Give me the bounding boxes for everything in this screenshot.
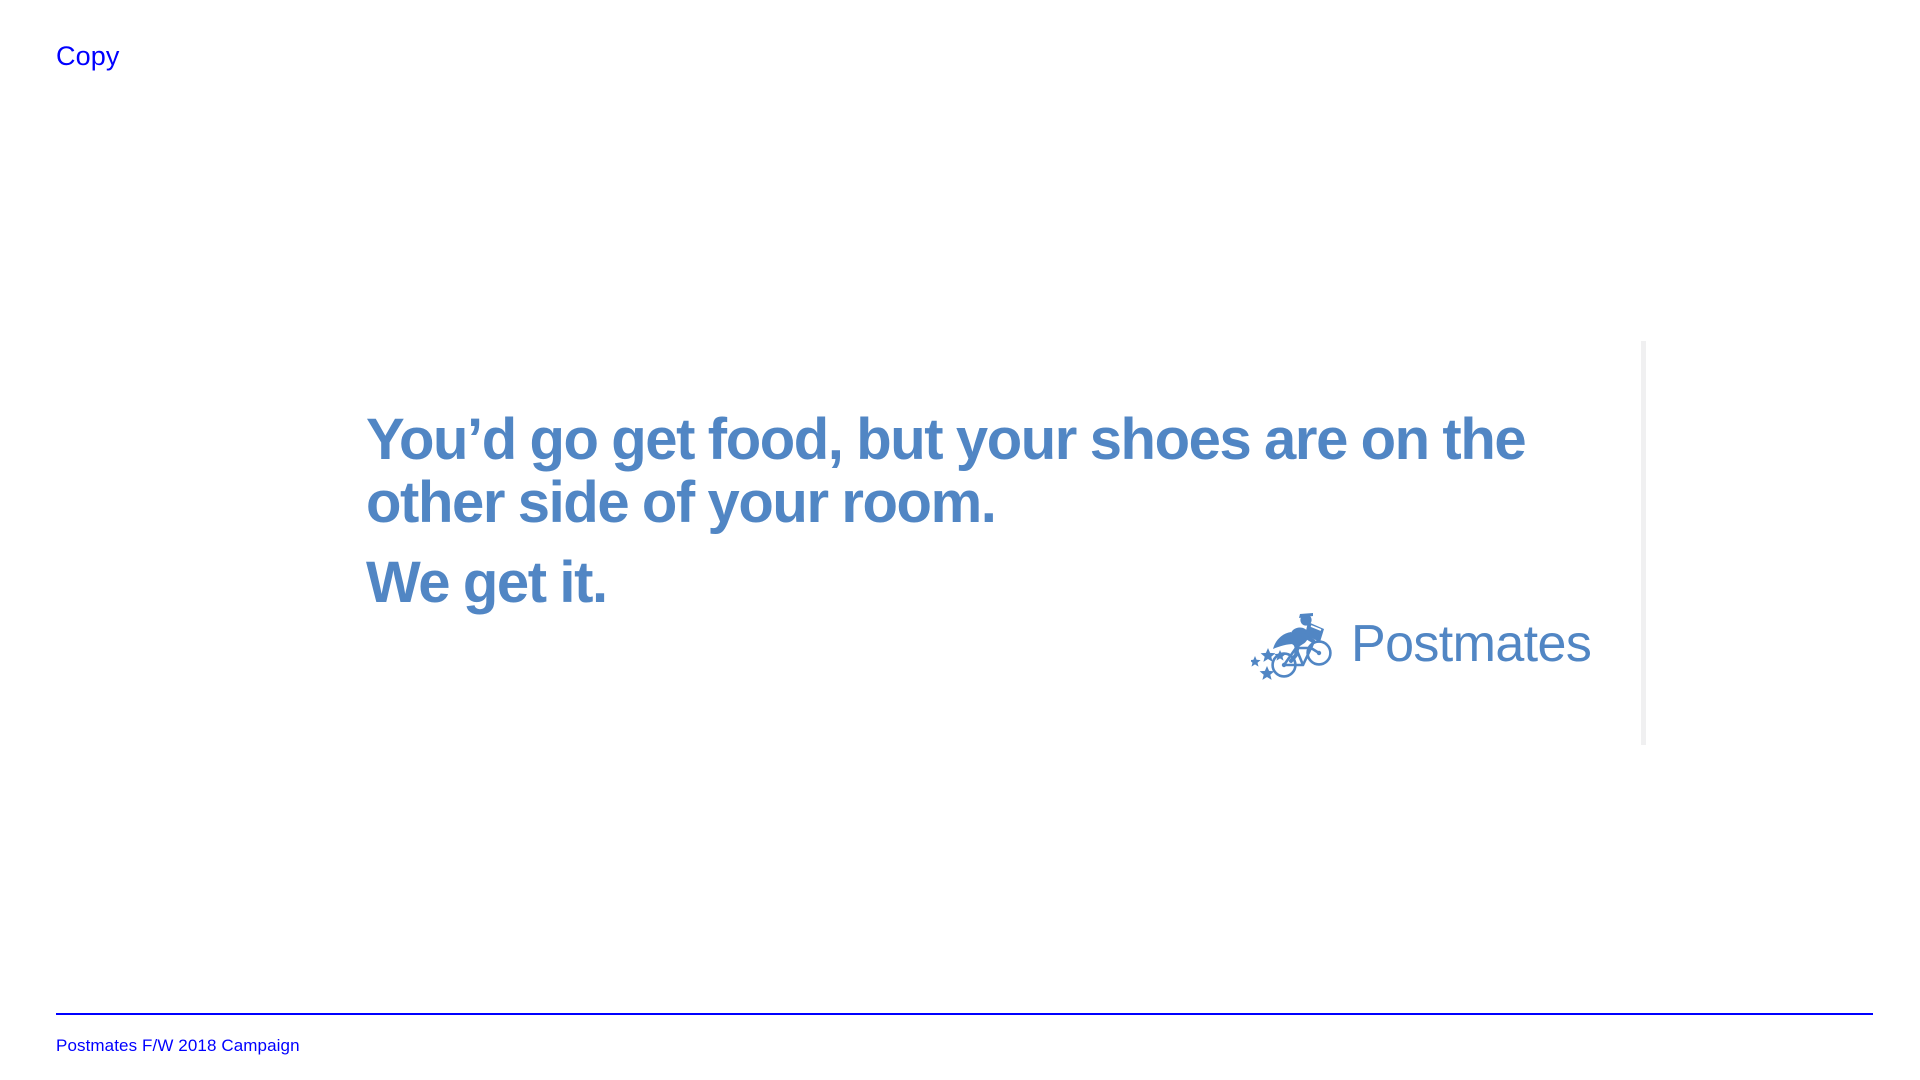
postmates-courier-icon	[1251, 608, 1335, 680]
slide-artboard: Copy You’d go get food, but your shoes a…	[0, 0, 1920, 1080]
headline-block: You’d go get food, but your shoes are on…	[366, 408, 1546, 614]
headline-line-1: You’d go get food, but your shoes are on…	[366, 408, 1546, 471]
footer-caption: Postmates F/W 2018 Campaign	[56, 1036, 300, 1056]
postmates-logo-lockup: Postmates	[1251, 608, 1591, 680]
postmates-wordmark: Postmates	[1351, 618, 1591, 670]
footer-divider	[56, 1013, 1873, 1015]
headline-line-3: We get it.	[366, 534, 1546, 614]
headline-line-2: other side of your room.	[366, 471, 1546, 534]
section-label-copy[interactable]: Copy	[56, 40, 119, 72]
vertical-guide-line	[1641, 341, 1646, 745]
